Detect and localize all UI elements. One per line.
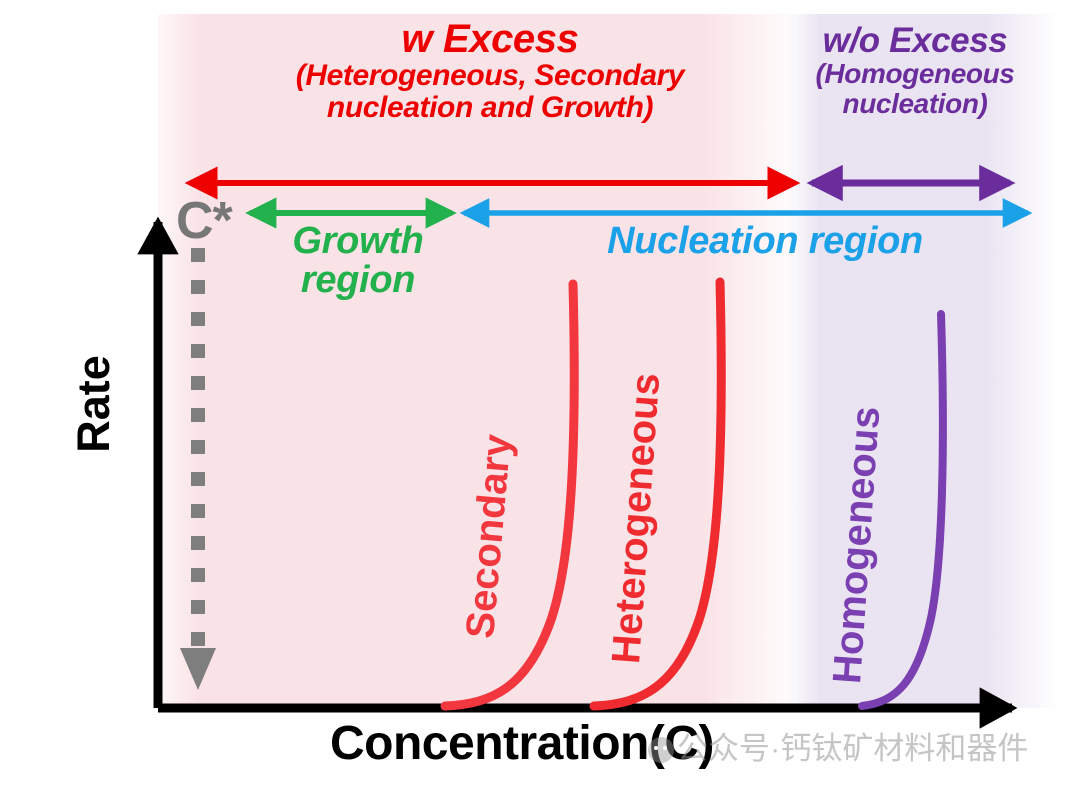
c-star-arrowhead-icon [180,648,216,690]
region-label-nucleation: Nucleation region [565,222,965,261]
region-label-nucleation-line1: Nucleation region [607,220,923,262]
figure-root: w Excess (Heterogeneous, Secondary nucle… [0,0,1080,789]
c-star-label: C* [176,195,232,247]
watermark: 公众号·钙钛矿材料和器件 [648,723,1028,768]
region-label-growth-line2: region [301,259,415,301]
region-label-growth-line1: Growth [292,220,423,262]
y-axis-title: Rate [68,304,120,504]
region-label-growth: Growth region [258,222,458,300]
watermark-text: 公众号·钙钛矿材料和器件 [677,731,1028,766]
watermark-badge-icon [648,737,674,763]
vector-graphics-layer [0,0,1080,789]
